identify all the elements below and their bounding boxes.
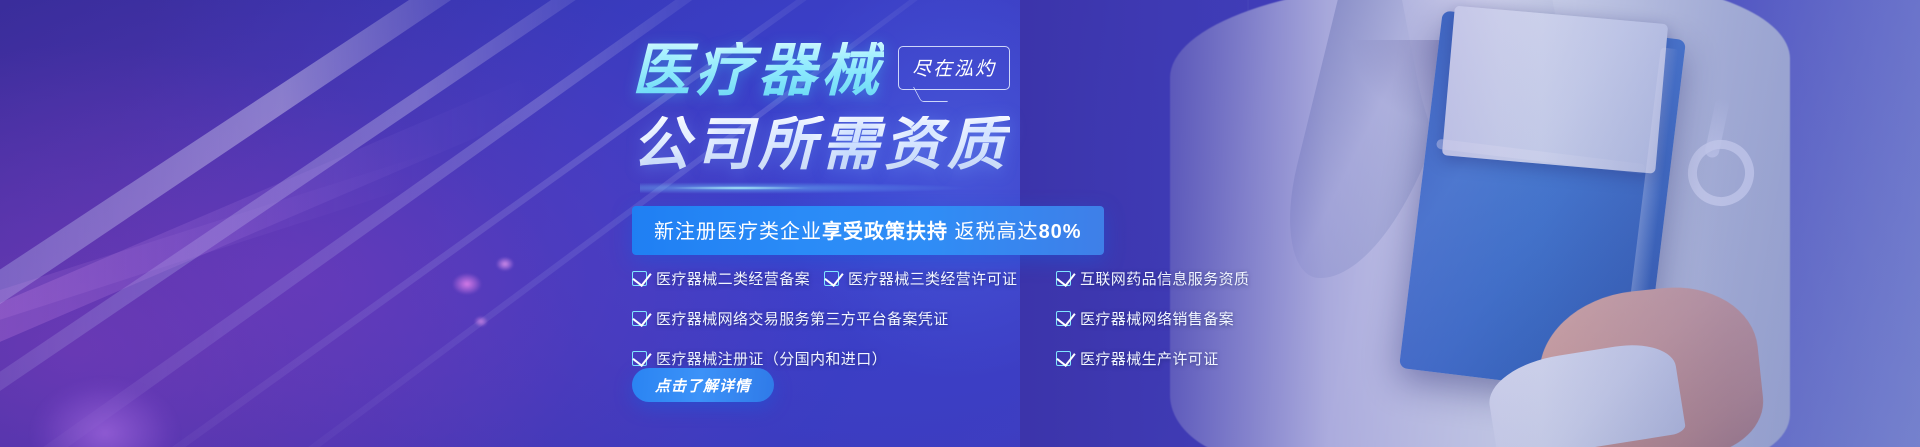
list-item-label: 医疗器械生产许可证 bbox=[1080, 348, 1219, 369]
ribbon-middle: 返税高达 bbox=[948, 221, 1039, 243]
banner-content: 医疗器械 尽在泓灼 公司所需资质 新注册医疗类企业享受政策扶持 返税高达80% … bbox=[0, 0, 1920, 447]
headline-line-2: 公司所需资质 bbox=[632, 116, 1010, 174]
list-item[interactable]: 医疗器械生产许可证 bbox=[1056, 348, 1249, 369]
list-item[interactable]: 互联网药品信息服务资质 bbox=[1056, 268, 1249, 289]
learn-more-button[interactable]: 点击了解详情 bbox=[632, 368, 774, 402]
check-icon bbox=[632, 271, 647, 286]
brand-bubble-tag: 尽在泓灼 bbox=[898, 46, 1010, 90]
list-item-label: 医疗器械三类经营许可证 bbox=[848, 268, 1017, 289]
headline-row-1: 医疗器械 尽在泓灼 bbox=[632, 42, 1010, 100]
list-item[interactable]: 医疗器械三类经营许可证 bbox=[824, 268, 1056, 289]
ribbon-prefix: 新注册医疗类企业 bbox=[654, 221, 822, 243]
list-item-label: 医疗器械网络交易服务第三方平台备案凭证 bbox=[656, 308, 949, 329]
check-icon bbox=[1056, 351, 1071, 366]
policy-ribbon: 新注册医疗类企业享受政策扶持 返税高达80% bbox=[632, 206, 1104, 255]
promo-banner: 医疗器械 尽在泓灼 公司所需资质 新注册医疗类企业享受政策扶持 返税高达80% … bbox=[0, 0, 1920, 447]
list-item-label: 医疗器械二类经营备案 bbox=[656, 268, 810, 289]
check-icon bbox=[632, 351, 647, 366]
check-icon bbox=[1056, 271, 1071, 286]
headline-shine-glow bbox=[640, 182, 970, 194]
check-icon bbox=[1056, 311, 1071, 326]
list-item[interactable]: 医疗器械网络交易服务第三方平台备案凭证 bbox=[632, 308, 1056, 329]
list-item-label: 医疗器械网络销售备案 bbox=[1080, 308, 1234, 329]
ribbon-strong-2: 80% bbox=[1039, 221, 1082, 243]
headline-line-1: 医疗器械 bbox=[632, 42, 884, 100]
headline-block: 医疗器械 尽在泓灼 公司所需资质 bbox=[632, 42, 1010, 174]
list-item-label: 互联网药品信息服务资质 bbox=[1080, 268, 1249, 289]
check-icon bbox=[632, 311, 647, 326]
list-item-label: 医疗器械注册证（分国内和进口） bbox=[656, 348, 887, 369]
list-item[interactable]: 医疗器械网络销售备案 bbox=[1056, 308, 1249, 329]
ribbon-strong-1: 享受政策扶持 bbox=[822, 221, 948, 243]
check-icon bbox=[824, 271, 839, 286]
qualification-checklist: 医疗器械二类经营备案 医疗器械三类经营许可证 互联网药品信息服务资质 医疗器械网… bbox=[632, 268, 1249, 369]
list-item[interactable]: 医疗器械二类经营备案 bbox=[632, 268, 824, 289]
list-item[interactable]: 医疗器械注册证（分国内和进口） bbox=[632, 348, 1056, 369]
